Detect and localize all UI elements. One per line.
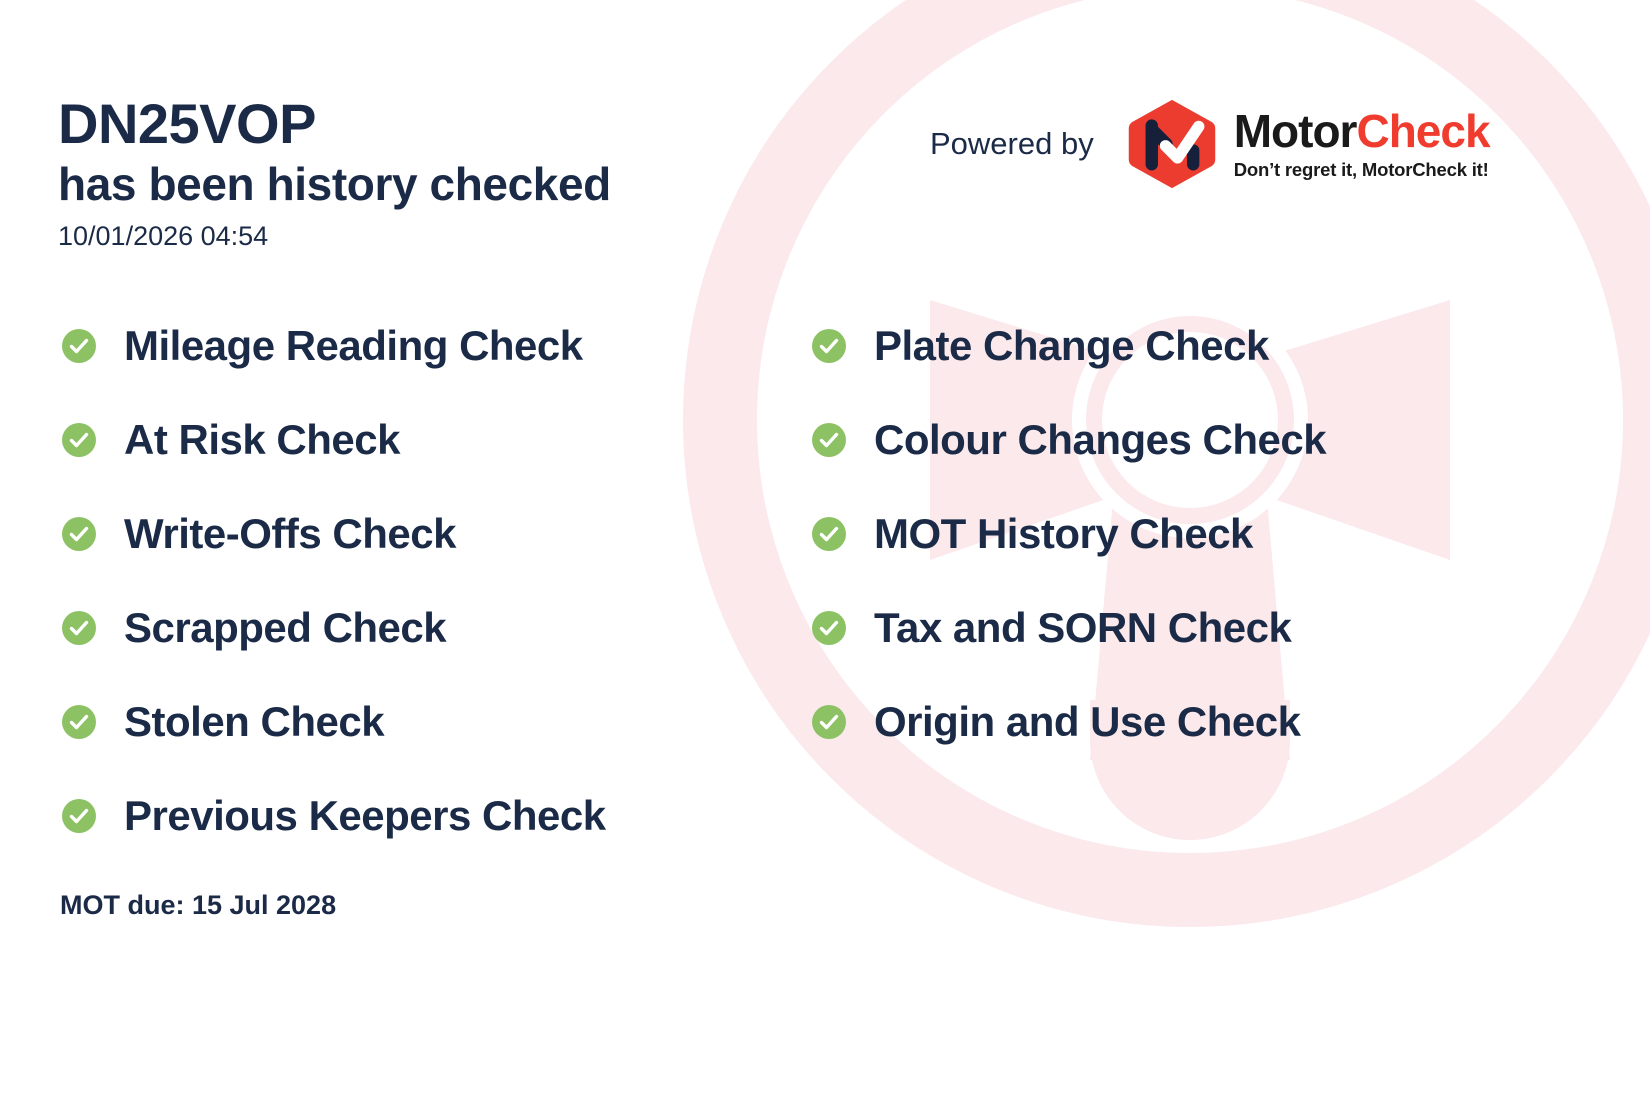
header-block: DN25VOP has been history checked 10/01/2… bbox=[58, 95, 818, 252]
check-item-label: Write-Offs Check bbox=[124, 513, 456, 555]
green-check-circle-icon bbox=[812, 517, 846, 551]
powered-by-brand-block: Powered by MotorCheck Don’t regret it, M… bbox=[930, 98, 1490, 190]
green-check-circle-icon bbox=[62, 517, 96, 551]
checks-column-left: Mileage Reading Check At Risk Check Writ… bbox=[62, 318, 782, 882]
wordmark-check: Check bbox=[1356, 105, 1489, 157]
mot-due-text: MOT due: 15 Jul 2028 bbox=[60, 890, 336, 921]
check-item-at-risk: At Risk Check bbox=[62, 412, 782, 468]
check-item-colour-changes: Colour Changes Check bbox=[812, 412, 1512, 468]
check-item-previous-keepers: Previous Keepers Check bbox=[62, 788, 782, 844]
wordmark-text-line: MotorCheck bbox=[1234, 108, 1490, 154]
green-check-circle-icon bbox=[62, 423, 96, 457]
green-check-circle-icon bbox=[812, 423, 846, 457]
check-item-label: MOT History Check bbox=[874, 513, 1253, 555]
green-check-circle-icon bbox=[812, 611, 846, 645]
check-item-mot-history: MOT History Check bbox=[812, 506, 1512, 562]
checks-column-right: Plate Change Check Colour Changes Check … bbox=[812, 318, 1512, 788]
check-item-tax-and-sorn: Tax and SORN Check bbox=[812, 600, 1512, 656]
check-item-label: Colour Changes Check bbox=[874, 419, 1326, 461]
check-item-label: At Risk Check bbox=[124, 419, 400, 461]
check-item-scrapped: Scrapped Check bbox=[62, 600, 782, 656]
green-check-circle-icon bbox=[62, 329, 96, 363]
motorcheck-hexagon-logo-icon bbox=[1126, 98, 1218, 190]
green-check-circle-icon bbox=[62, 799, 96, 833]
green-check-circle-icon bbox=[812, 329, 846, 363]
green-check-circle-icon bbox=[62, 705, 96, 739]
green-check-circle-icon bbox=[62, 611, 96, 645]
check-item-origin-and-use: Origin and Use Check bbox=[812, 694, 1512, 750]
check-item-label: Scrapped Check bbox=[124, 607, 446, 649]
powered-by-label: Powered by bbox=[930, 126, 1094, 162]
check-item-label: Previous Keepers Check bbox=[124, 795, 606, 837]
check-item-label: Tax and SORN Check bbox=[874, 607, 1291, 649]
check-timestamp: 10/01/2026 04:54 bbox=[58, 221, 818, 252]
motorcheck-wordmark: MotorCheck Don’t regret it, MotorCheck i… bbox=[1234, 108, 1490, 181]
check-item-label: Stolen Check bbox=[124, 701, 384, 743]
check-item-label: Mileage Reading Check bbox=[124, 325, 583, 367]
wordmark-motor: Motor bbox=[1234, 105, 1357, 157]
vehicle-history-check-card: DN25VOP has been history checked 10/01/2… bbox=[0, 0, 1650, 1100]
check-item-write-offs: Write-Offs Check bbox=[62, 506, 782, 562]
brand-tagline: Don’t regret it, MotorCheck it! bbox=[1234, 159, 1490, 181]
green-check-circle-icon bbox=[812, 705, 846, 739]
check-item-stolen: Stolen Check bbox=[62, 694, 782, 750]
vehicle-registration-title: DN25VOP bbox=[58, 95, 818, 152]
check-item-plate-change: Plate Change Check bbox=[812, 318, 1512, 374]
history-checked-subtitle: has been history checked bbox=[58, 158, 818, 211]
check-item-mileage-reading: Mileage Reading Check bbox=[62, 318, 782, 374]
check-item-label: Origin and Use Check bbox=[874, 701, 1300, 743]
check-item-label: Plate Change Check bbox=[874, 325, 1269, 367]
